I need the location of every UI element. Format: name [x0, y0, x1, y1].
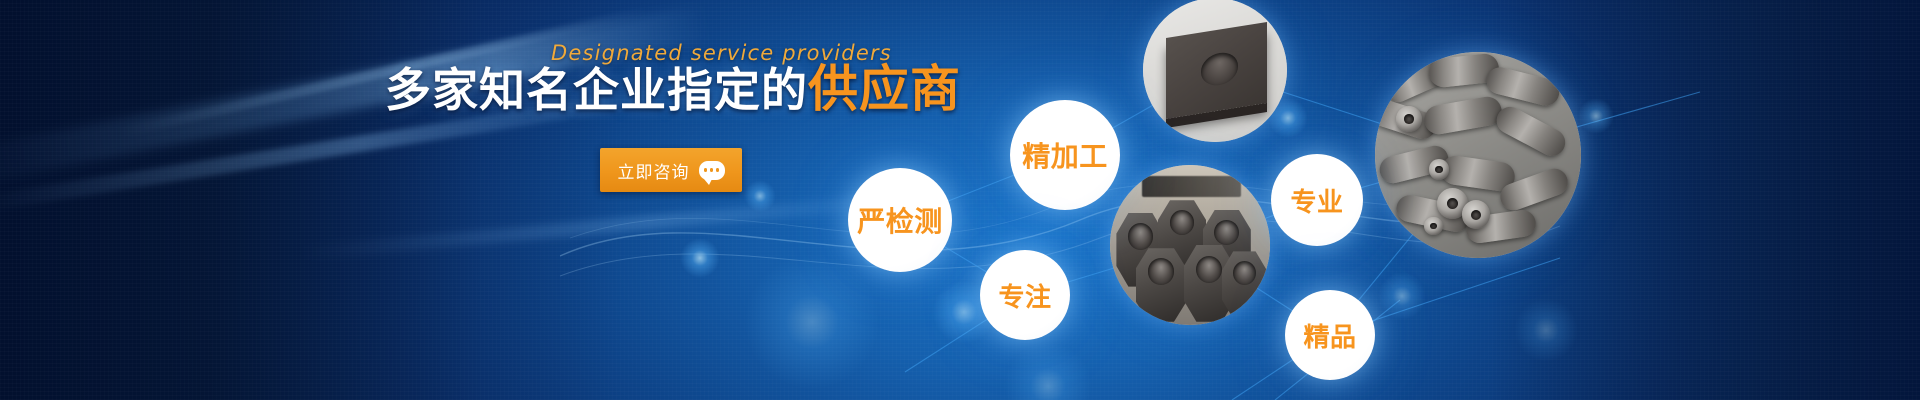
- keyword-circle-label: 严检测: [857, 200, 943, 240]
- hex-nut-shape: [1136, 248, 1187, 322]
- keyword-circle[interactable]: 精品: [1285, 290, 1375, 380]
- tube-shape: [1493, 102, 1571, 160]
- keyword-circle[interactable]: 精加工: [1010, 100, 1120, 210]
- keyword-circle[interactable]: 严检测: [848, 168, 952, 272]
- consult-now-button[interactable]: 立即咨询: [600, 148, 742, 192]
- keyword-circle-label: 专业: [1290, 182, 1343, 219]
- keyword-circle[interactable]: 专注: [980, 250, 1070, 340]
- keyword-circle-label: 专注: [998, 277, 1051, 314]
- steel-tube-image: [1375, 52, 1581, 258]
- steel-plate-photo: [1143, 0, 1287, 142]
- photo-watermark-text: [1142, 176, 1241, 197]
- tube-ring-shape: [1429, 159, 1450, 180]
- tube-shape: [1423, 95, 1505, 137]
- tube-ring-shape: [1424, 217, 1443, 236]
- consult-now-label: 立即咨询: [618, 158, 690, 183]
- headline-main-text: 多家知名企业指定的: [385, 64, 808, 116]
- hex-nut-image: [1110, 165, 1270, 325]
- steel-plate-image: [1143, 0, 1287, 142]
- hero-headline: 多家知名企业指定的供应商: [385, 64, 961, 114]
- steel-tube-photo: [1375, 52, 1581, 258]
- keyword-circle[interactable]: 专业: [1271, 154, 1363, 246]
- hero-banner: 严检测精加工专注专业精品 Designated service provider…: [0, 0, 1920, 400]
- headline-accent-text: 供应商: [808, 61, 961, 117]
- keyword-circle-label: 精品: [1303, 317, 1356, 354]
- hex-nut-shape: [1222, 251, 1267, 318]
- keyword-circle-label: 精加工: [1022, 135, 1108, 175]
- chat-bubble-icon: [699, 161, 725, 180]
- hex-nut-photo: [1110, 165, 1270, 325]
- hero-copy-block: Designated service providers 多家知名企业指定的供应…: [0, 0, 800, 400]
